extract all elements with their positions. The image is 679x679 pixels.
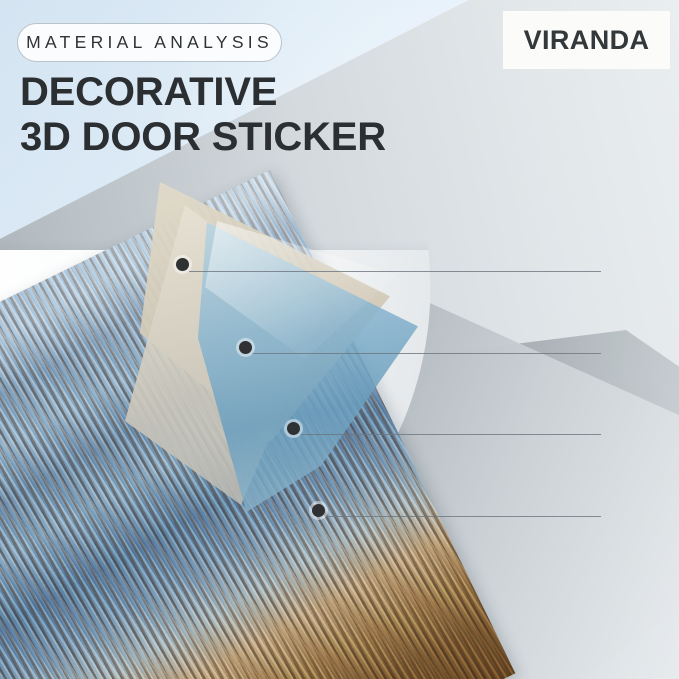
callout-dot-backing-layer	[312, 504, 325, 517]
callout-dot-bonding-layer	[287, 422, 300, 435]
callout-leader-line-bonding-layer	[300, 434, 601, 435]
callout-leader-line-backing-layer	[325, 516, 601, 517]
callout-group: 1.WATERPROOF LAYER2.HD PATTERN LAYER3. B…	[0, 0, 679, 679]
callout-dot-waterproof-layer	[176, 258, 189, 271]
callout-dot-hd-pattern-layer	[239, 341, 252, 354]
callout-leader-line-waterproof-layer	[189, 271, 601, 272]
callout-leader-line-hd-pattern-layer	[252, 353, 601, 354]
poster-canvas: MATERIAL ANALYSIS DECORATIVE 3D DOOR STI…	[0, 0, 679, 679]
